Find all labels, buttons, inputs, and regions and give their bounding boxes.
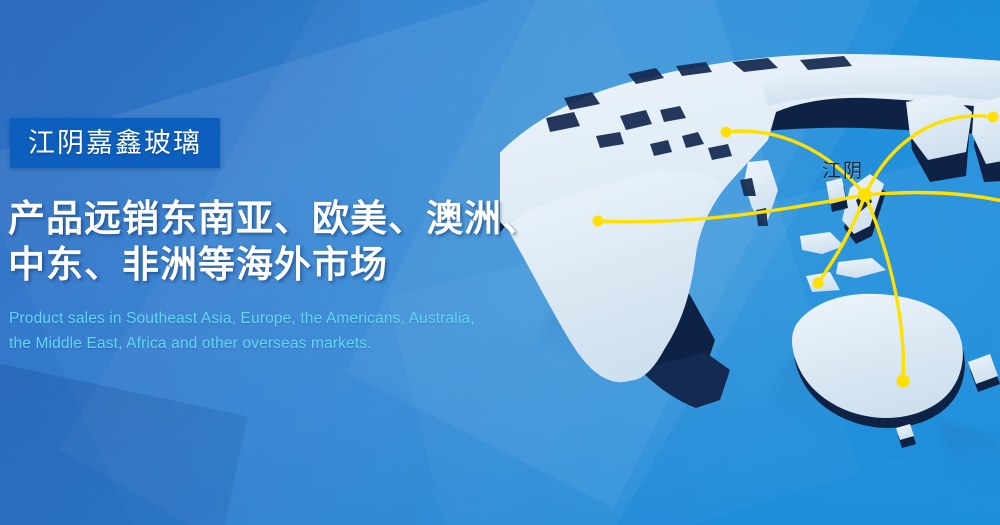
landmass-pacific-islands bbox=[968, 338, 1000, 392]
node-northeast-asia bbox=[988, 112, 999, 123]
subheadline-line-2: the Middle East, Africa and other overse… bbox=[9, 331, 569, 356]
subheadline: Product sales in Southeast Asia, Europe,… bbox=[9, 306, 569, 356]
brand-badge-label: 江阴嘉鑫玻璃 bbox=[28, 130, 202, 157]
node-europe bbox=[721, 127, 732, 138]
headline: 产品远销东南亚、欧美、澳洲、 中东、非洲等海外市场 bbox=[8, 196, 568, 288]
banner-copy: 江阴嘉鑫玻璃 产品远销东南亚、欧美、澳洲、 中东、非洲等海外市场 Product… bbox=[0, 0, 580, 525]
node-hub-jiangyin bbox=[858, 188, 872, 202]
node-australia bbox=[897, 375, 910, 388]
hub-label-jiangyin: 江阴 bbox=[822, 162, 864, 181]
node-africa bbox=[593, 216, 604, 227]
subheadline-line-1: Product sales in Southeast Asia, Europe,… bbox=[9, 306, 569, 331]
headline-line-2: 中东、非洲等海外市场 bbox=[8, 242, 568, 288]
promo-banner: 江阴 江阴嘉鑫玻璃 产品远销东南亚、欧美、澳洲、 中东、非洲等海外市场 Prod… bbox=[0, 0, 1000, 525]
brand-badge: 江阴嘉鑫玻璃 bbox=[10, 118, 220, 168]
route-to-east bbox=[865, 192, 1000, 205]
node-southeast-asia bbox=[813, 278, 824, 289]
headline-line-1: 产品远销东南亚、欧美、澳洲、 bbox=[8, 196, 568, 242]
